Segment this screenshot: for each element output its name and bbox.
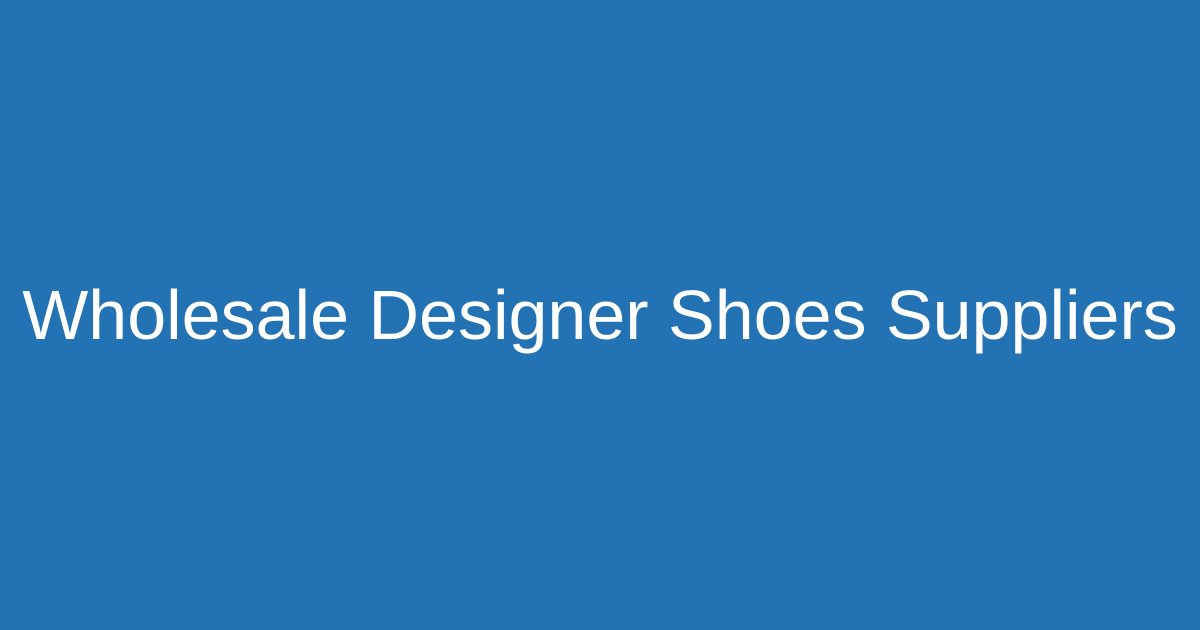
title-container: Wholesale Designer Shoes Suppliers [40,280,1160,350]
share-card-canvas: Wholesale Designer Shoes Suppliers [0,0,1200,630]
page-title: Wholesale Designer Shoes Suppliers [22,280,1178,350]
